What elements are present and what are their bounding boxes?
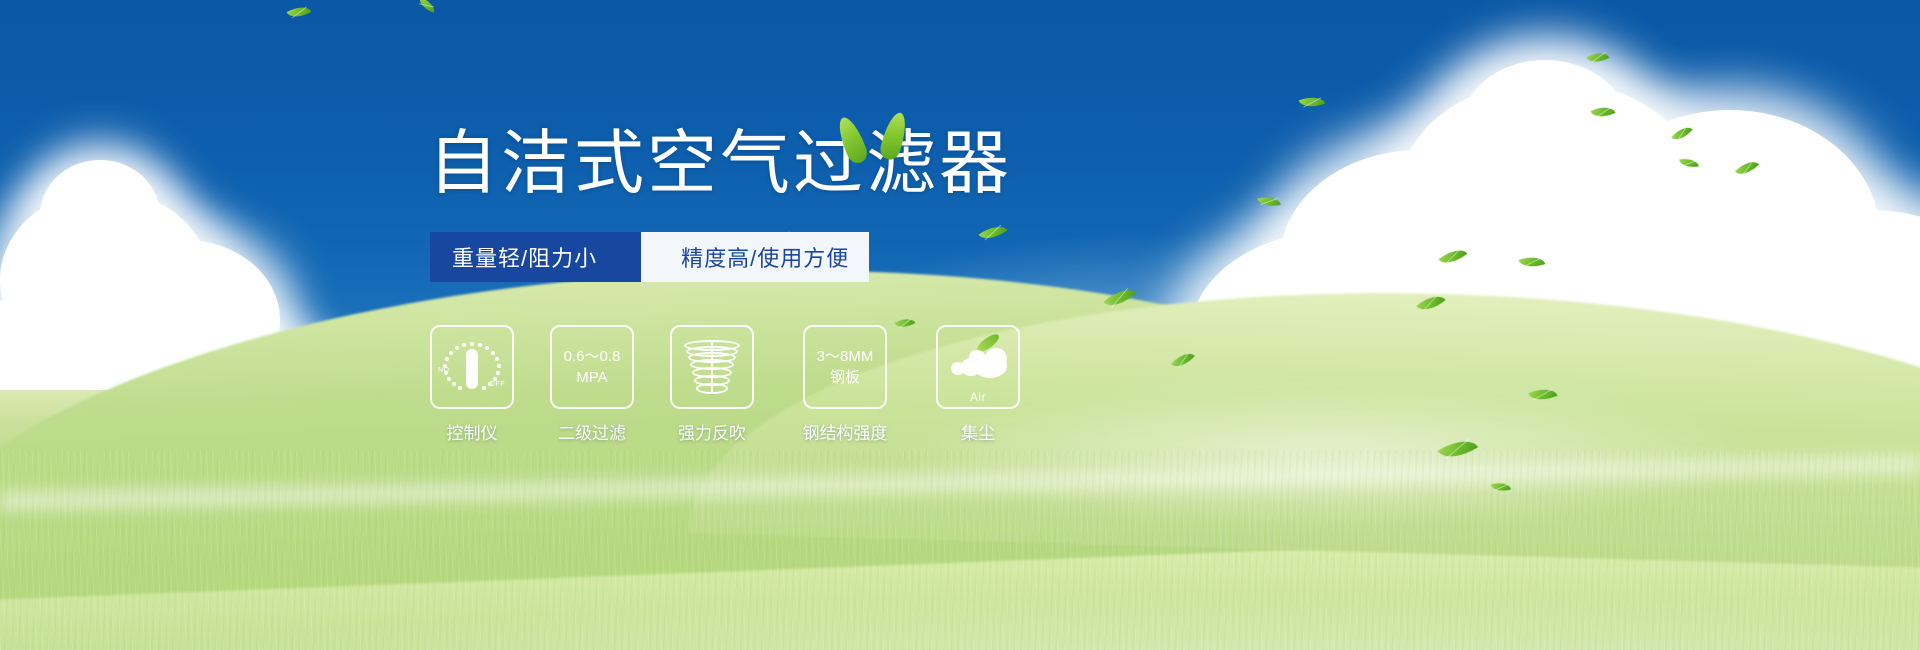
tab-lightweight-label: 重量轻/阻力小 [452,241,597,273]
leaf-pair-icon [836,108,932,170]
feature-icon-box: 0.6～0.8 MPA [550,325,634,409]
feature-item-pressure[interactable]: 0.6～0.8 MPA 二级过滤 [550,325,634,444]
feature-label: 控制仪 [447,419,498,444]
tab-precision[interactable]: 精度高/使用方便 [641,232,869,282]
gauge-off-label: OFF [490,381,506,388]
feature-icon-box: NO OFF [430,325,514,409]
tab-lightweight[interactable]: 重量轻/阻力小 [430,232,643,282]
steel-plate-text-icon-line1: 3～8MM [817,346,874,367]
dust-cloud-air-label: Air [947,390,1009,404]
feature-icon-box: Air [936,325,1020,409]
feature-label: 集尘 [961,419,995,444]
feature-item-dust[interactable]: Air 集尘 [936,325,1020,444]
feature-item-steel[interactable]: 3～8MM 钢板 钢结构强度 [790,325,900,444]
feature-label: 二级过滤 [558,419,626,444]
feature-item-backblow[interactable]: 强力反吹 [670,325,754,444]
tagline-tabs: 重量轻/阻力小 精度高/使用方便 [430,232,869,282]
banner-stage: 自洁式空气过滤器 重量轻/阻力小 精度高/使用方便 [0,0,1920,650]
pressure-text-icon-line2: MPA [576,367,607,388]
gauge-dial-icon: NO OFF [439,337,505,397]
feature-icon-box [670,325,754,409]
feature-label: 钢结构强度 [803,419,888,444]
coil-airflow-icon [684,338,740,396]
gauge-on-label: NO [438,367,450,374]
dust-cloud-icon: Air [947,344,1009,390]
feature-list: NO OFF 控制仪 0.6～0.8 MPA 二级过滤 [430,325,1020,444]
feature-item-controller[interactable]: NO OFF 控制仪 [430,325,514,444]
steel-plate-text-icon-line2: 钢板 [830,367,860,388]
banner-content: 自洁式空气过滤器 重量轻/阻力小 精度高/使用方便 [0,0,1920,650]
feature-icon-box: 3～8MM 钢板 [803,325,887,409]
pressure-text-icon-line1: 0.6～0.8 [564,346,621,367]
feature-label: 强力反吹 [678,419,746,444]
tab-precision-label: 精度高/使用方便 [681,241,849,273]
